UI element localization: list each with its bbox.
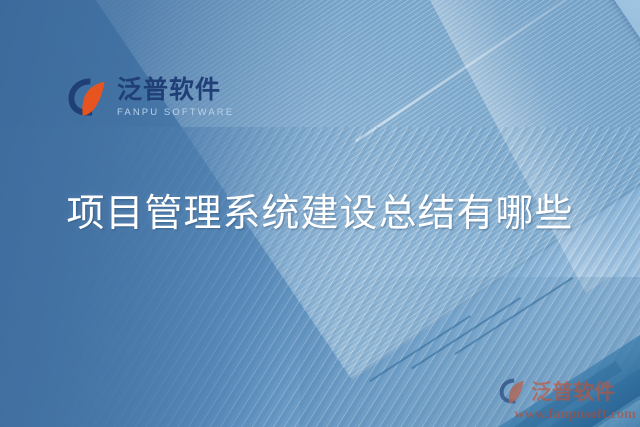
headline-title: 项目管理系统建设总结有哪些 (0, 182, 640, 237)
watermark-brand-name: 泛普软件 (531, 376, 615, 406)
promo-banner: 泛普软件 FANPU SOFTWARE 项目管理系统建设总结有哪些 泛普软件 w… (0, 0, 640, 427)
brand-logo-lockup: 泛普软件 FANPU SOFTWARE (66, 76, 234, 118)
watermark-group: 泛普软件 www.fanpusoft.com (498, 376, 636, 423)
fanpu-sail-logo-icon (498, 377, 526, 405)
brand-name-en: FANPU SOFTWARE (117, 108, 234, 118)
brand-name-cn: 泛普软件 (117, 77, 234, 102)
watermark-url: www.fanpusoft.com (498, 407, 636, 423)
brand-text-block: 泛普软件 FANPU SOFTWARE (117, 77, 234, 118)
fanpu-sail-logo-icon (66, 76, 108, 118)
watermark-logo-row: 泛普软件 (498, 376, 636, 406)
